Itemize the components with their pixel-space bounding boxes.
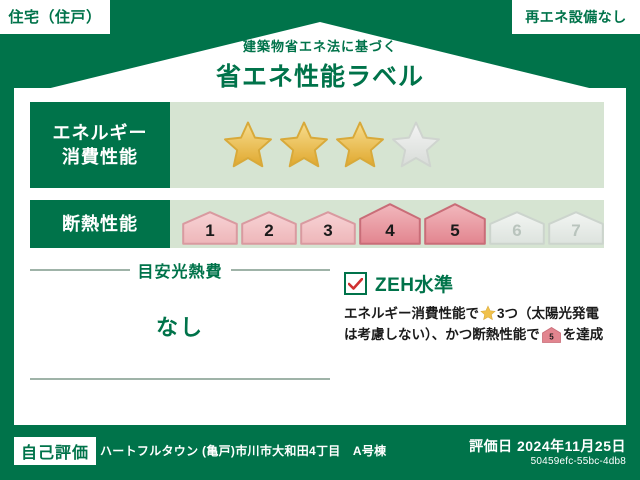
insulation-level-number: 3: [323, 221, 332, 245]
utility-cost-header: 目安光熱費: [30, 258, 330, 282]
insulation-level-number: 1: [205, 221, 214, 245]
energy-label-line1: エネルギー: [53, 121, 148, 145]
insulation-level-7: 7: [548, 211, 604, 245]
insulation-level-number: 2: [264, 221, 273, 245]
insulation-performance-label: 断熱性能: [30, 200, 170, 248]
utility-cost-block: 目安光熱費 なし: [30, 258, 330, 380]
insulation-badge-inline: 5: [542, 331, 561, 346]
main-card: エネルギー 消費性能 断熱性能 1234567 目安光熱費: [14, 88, 626, 425]
star-icon-filled: [278, 119, 330, 171]
insulation-label-text: 断熱性能: [62, 212, 138, 236]
insulation-level-number: 7: [571, 221, 580, 245]
energy-performance-row: エネルギー 消費性能: [30, 102, 604, 188]
insulation-level-number: 5: [450, 221, 459, 245]
zeh-block: ZEH水準 エネルギー消費性能で3つ（太陽光発電 は考慮しない）、かつ断熱性能で…: [344, 270, 616, 350]
energy-performance-value: [170, 102, 604, 188]
rule-left: [30, 269, 130, 271]
insulation-level-6: 6: [489, 211, 545, 245]
insulation-level-number: 6: [512, 221, 521, 245]
utility-cost-title: 目安光熱費: [138, 258, 223, 282]
svg-text:5: 5: [549, 332, 554, 341]
insulation-level-3: 3: [300, 211, 356, 245]
zeh-title: ZEH水準: [375, 270, 454, 297]
evaluation-date: 評価日 2024年11月25日: [469, 436, 626, 456]
insulation-level-scale: 1234567: [182, 203, 604, 245]
rule-bottom: [30, 378, 330, 380]
energy-label-line2: 消費性能: [62, 145, 138, 169]
star-icon: [480, 305, 496, 321]
insulation-level-2: 2: [241, 211, 297, 245]
zeh-checkbox[interactable]: [344, 272, 367, 295]
self-evaluation-badge: 自己評価: [14, 437, 96, 465]
star-rating: [222, 119, 442, 171]
insulation-level-number: 4: [385, 221, 394, 245]
insulation-level-5: 5: [424, 203, 486, 245]
star-icon-filled: [222, 119, 274, 171]
badge-building-type: 住宅（住戸）: [0, 0, 110, 34]
insulation-performance-row: 断熱性能 1234567: [30, 200, 604, 248]
bottom-section: 目安光熱費 なし ZEH水準 エネルギー消費性能で3つ（太陽光発電: [14, 258, 626, 425]
zeh-header: ZEH水準: [344, 270, 616, 297]
zeh-desc-stars: 3つ（太陽光発電: [497, 306, 599, 321]
property-name: ハートフルタウン (亀戸)市川市大和田4丁目 A号棟: [100, 442, 386, 459]
zeh-desc-part2: は考慮しない）、かつ断熱性能で: [344, 327, 540, 342]
star-icon-filled: [334, 119, 386, 171]
star-icon-empty: [390, 119, 442, 171]
zeh-description: エネルギー消費性能で3つ（太陽光発電 は考慮しない）、かつ断熱性能で5を達成: [344, 304, 616, 350]
energy-performance-label: 建築物省エネ法に基づく 省エネ性能ラベル 住宅（住戸） 再エネ設備なし エネルギ…: [0, 0, 640, 480]
insulation-performance-value: 1234567: [170, 200, 604, 248]
badge-renewable-energy: 再エネ設備なし: [512, 0, 640, 34]
rule-right: [231, 269, 331, 271]
zeh-desc-part3: を達成: [563, 327, 604, 342]
utility-cost-value: なし: [30, 310, 330, 342]
insulation-level-1: 1: [182, 211, 238, 245]
zeh-desc-part1: エネルギー消費性能で: [344, 306, 479, 321]
insulation-level-4: 4: [359, 203, 421, 245]
energy-performance-label: エネルギー 消費性能: [30, 102, 170, 188]
footer: 自己評価 ハートフルタウン (亀戸)市川市大和田4丁目 A号棟 評価日 2024…: [0, 425, 640, 480]
evaluation-id: 50459efc-55bc-4db8: [531, 456, 626, 467]
check-icon: [348, 278, 363, 290]
